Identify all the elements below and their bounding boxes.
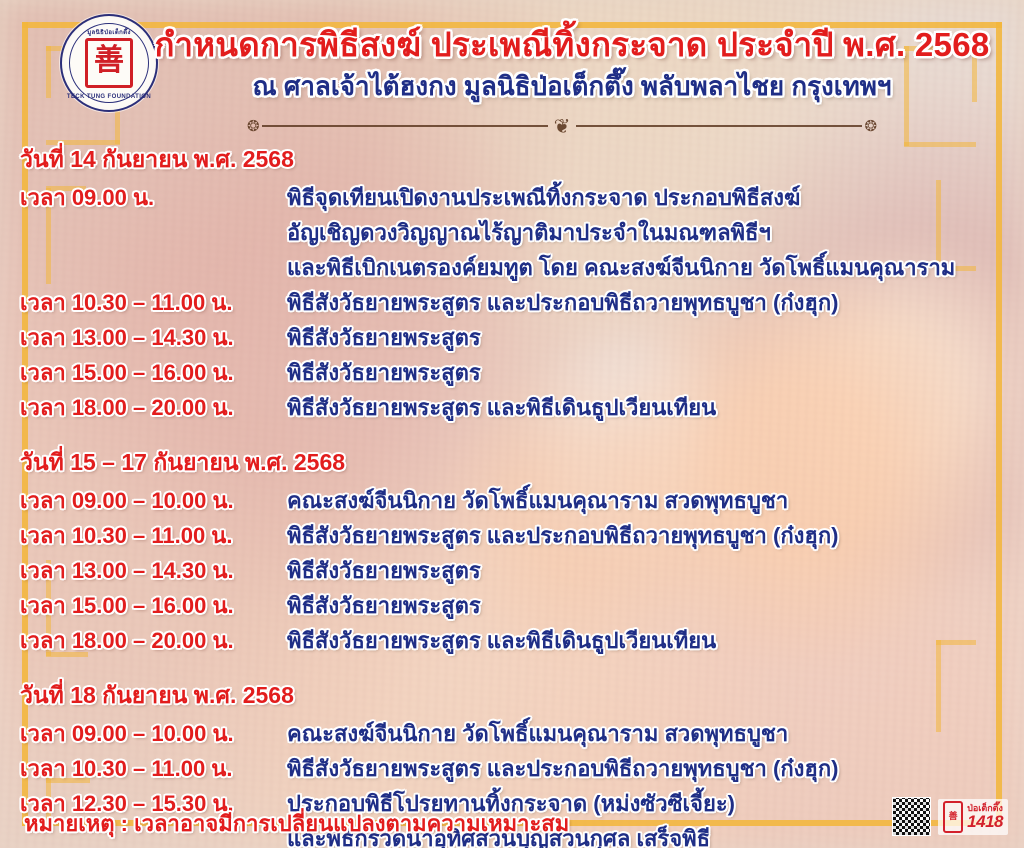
row-description: พิธีจุดเทียนเปิดงานประเพณีทิ้งกระจาด ประ… xyxy=(287,180,1024,285)
row-time: เวลา 09.00 น. xyxy=(20,180,287,215)
row-time: เวลา 09.00 – 10.00 น. xyxy=(20,483,287,518)
hotline-text: ป่อเต็กตึ๊ง 1418 xyxy=(967,804,1003,830)
row-description-line: อัญเชิญดวงวิญญาณไร้ญาติมาประจำในมณฑลพิธี… xyxy=(287,215,1024,250)
row-time: เวลา 10.30 – 11.00 น. xyxy=(20,285,287,320)
schedule-row: เวลา 10.30 – 11.00 น. พิธีสังวัธยายพระสู… xyxy=(20,518,1024,553)
divider-rule-right xyxy=(576,125,862,127)
row-description-line: พิธีจุดเทียนเปิดงานประเพณีทิ้งกระจาด ประ… xyxy=(287,180,1024,215)
schedule-row: เวลา 10.30 – 11.00 น. พิธีสังวัธยายพระสู… xyxy=(20,285,1024,320)
row-description: พิธีสังวัธยายพระสูตร และประกอบพิธีถวายพุ… xyxy=(287,751,1024,786)
schedule-row: เวลา 15.00 – 16.00 น. พิธีสังวัธยายพระสู… xyxy=(20,588,1024,623)
row-description: พิธีสังวัธยายพระสูตร xyxy=(287,553,1024,588)
row-description: คณะสงฆ์จีนนิกาย วัดโพธิ์แมนคุณาราม สวดพุ… xyxy=(287,483,1024,518)
poster-header: มูลนิธิป่อเต็กตึ๊ง TECK TUNG FOUNDATION … xyxy=(0,0,1024,112)
schedule-row: เวลา 10.30 – 11.00 น. พิธีสังวัธยายพระสู… xyxy=(20,751,1024,786)
day-block: วันที่ 15 – 17 กันยายน พ.ศ. 2568 เวลา 09… xyxy=(0,445,1024,658)
hotline-number: 1418 xyxy=(967,813,1003,830)
row-description: พิธีสังวัธยายพระสูตร และพิธีเดินธูปเวียน… xyxy=(287,390,1024,425)
row-description: พิธีสังวัธยายพระสูตร xyxy=(287,588,1024,623)
phone-icon: 善 xyxy=(943,801,963,833)
logo-arc-bottom: TECK TUNG FOUNDATION xyxy=(62,94,156,100)
row-description: พิธีสังวัธยายพระสูตร และประกอบพิธีถวายพุ… xyxy=(287,518,1024,553)
row-time: เวลา 18.00 – 20.00 น. xyxy=(20,623,287,658)
day-block: วันที่ 14 กันยายน พ.ศ. 2568 เวลา 09.00 น… xyxy=(0,142,1024,425)
row-time: เวลา 15.00 – 16.00 น. xyxy=(20,355,287,390)
row-time: เวลา 13.00 – 14.30 น. xyxy=(20,553,287,588)
schedule-row: เวลา 09.00 น. พิธีจุดเทียนเปิดงานประเพณี… xyxy=(20,180,1024,285)
section-spacer xyxy=(0,662,1024,678)
schedule-row: เวลา 09.00 – 10.00 น. คณะสงฆ์จีนนิกาย วั… xyxy=(20,716,1024,751)
row-description: พิธีสังวัธยายพระสูตร และประกอบพิธีถวายพุ… xyxy=(287,285,1024,320)
schedule-row: เวลา 18.00 – 20.00 น. พิธีสังวัธยายพระสู… xyxy=(20,390,1024,425)
schedule-row: เวลา 18.00 – 20.00 น. พิธีสังวัธยายพระสู… xyxy=(20,623,1024,658)
row-description: พิธีสังวัธยายพระสูตร xyxy=(287,320,1024,355)
day-heading: วันที่ 14 กันยายน พ.ศ. 2568 xyxy=(20,142,1024,178)
ornamental-divider: ❂ ❦ ❂ xyxy=(245,113,879,139)
day-heading: วันที่ 18 กันยายน พ.ศ. 2568 xyxy=(20,678,1024,714)
row-time: เวลา 10.30 – 11.00 น. xyxy=(20,518,287,553)
footer-note: หมายเหตุ : เวลาอาจมีการเปลี่ยนแปลงตามควา… xyxy=(24,806,569,841)
qr-code-icon[interactable] xyxy=(892,797,931,836)
day-heading: วันที่ 15 – 17 กันยายน พ.ศ. 2568 xyxy=(20,445,1024,481)
hotline-badge[interactable]: 善 ป่อเต็กตึ๊ง 1418 xyxy=(938,799,1008,835)
poster-canvas: มูลนิธิป่อเต็กตึ๊ง TECK TUNG FOUNDATION … xyxy=(0,0,1024,848)
page-title: กำหนดการพิธีสงฆ์ ประเพณีทิ้งกระจาด ประจำ… xyxy=(152,18,992,71)
schedule-row: เวลา 13.00 – 14.30 น. พิธีสังวัธยายพระสู… xyxy=(20,320,1024,355)
divider-right-endcap-icon: ❂ xyxy=(862,119,879,134)
divider-rule-left xyxy=(262,125,548,127)
divider-center-knot-icon: ❦ xyxy=(548,116,577,136)
schedule-list: วันที่ 14 กันยายน พ.ศ. 2568 เวลา 09.00 น… xyxy=(0,142,1024,848)
page-subtitle: ณ ศาลเจ้าไต้ฮงกง มูลนิธิป่อเต็กตึ๊ง พลับ… xyxy=(152,66,992,107)
row-time: เวลา 13.00 – 14.30 น. xyxy=(20,320,287,355)
row-time: เวลา 18.00 – 20.00 น. xyxy=(20,390,287,425)
schedule-row: เวลา 15.00 – 16.00 น. พิธีสังวัธยายพระสู… xyxy=(20,355,1024,390)
footer-badges: 善 ป่อเต็กตึ๊ง 1418 xyxy=(892,797,1008,836)
section-spacer xyxy=(0,429,1024,445)
row-description: พิธีสังวัธยายพระสูตร xyxy=(287,355,1024,390)
row-time: เวลา 10.30 – 11.00 น. xyxy=(20,751,287,786)
schedule-row: เวลา 09.00 – 10.00 น. คณะสงฆ์จีนนิกาย วั… xyxy=(20,483,1024,518)
schedule-row: เวลา 13.00 – 14.30 น. พิธีสังวัธยายพระสู… xyxy=(20,553,1024,588)
foundation-logo: มูลนิธิป่อเต็กตึ๊ง TECK TUNG FOUNDATION … xyxy=(60,14,158,112)
row-description: คณะสงฆ์จีนนิกาย วัดโพธิ์แมนคุณาราม สวดพุ… xyxy=(287,716,1024,751)
row-time: เวลา 09.00 – 10.00 น. xyxy=(20,716,287,751)
logo-arc-top: มูลนิธิป่อเต็กตึ๊ง xyxy=(62,27,156,37)
row-description: พิธีสังวัธยายพระสูตร และพิธีเดินธูปเวียน… xyxy=(287,623,1024,658)
row-time: เวลา 15.00 – 16.00 น. xyxy=(20,588,287,623)
divider-left-endcap-icon: ❂ xyxy=(245,119,262,134)
row-description-line: และพิธีเบิกเนตรองค์ยมทูต โดย คณะสงฆ์จีนน… xyxy=(287,250,1024,285)
logo-seal-character: 善 xyxy=(85,38,133,88)
